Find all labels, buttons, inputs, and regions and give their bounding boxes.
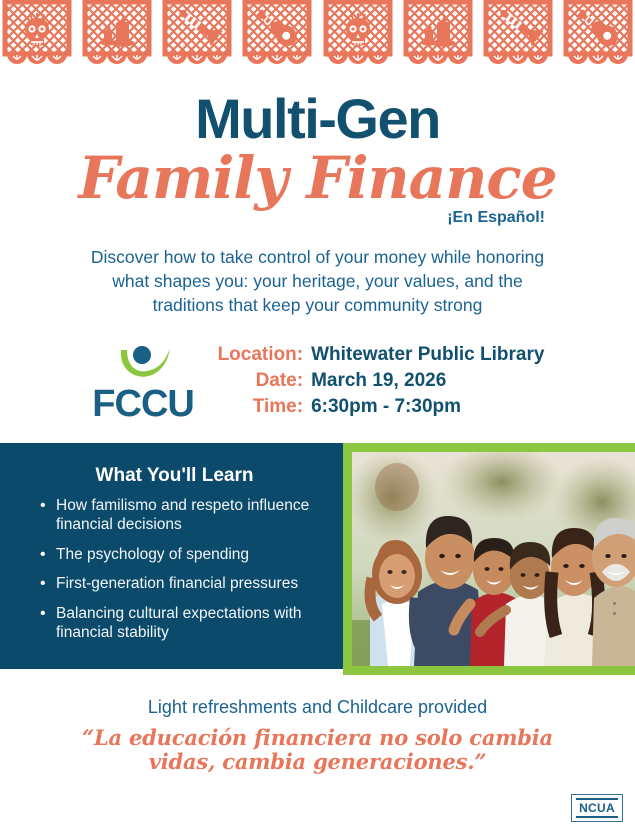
- papel-panel-candles-2: [401, 0, 475, 72]
- list-item: Balancing cultural expectations with fin…: [40, 605, 323, 643]
- detail-label-date: Date:: [218, 370, 304, 392]
- event-info-row: FCCU Location: Whitewater Public Library…: [0, 342, 635, 421]
- ncua-logo-text: NCUA: [579, 801, 615, 815]
- event-details-list: Location: Whitewater Public Library Date…: [218, 344, 545, 418]
- candles-icon: [80, 0, 154, 72]
- ncua-logo: NCUA: [571, 794, 623, 822]
- fccu-logo-text: FCCU: [91, 387, 196, 421]
- papel-picado-banner: [0, 0, 635, 72]
- sugar-skull-icon: [0, 0, 74, 72]
- papel-panel-guitar-2: [561, 0, 635, 72]
- detail-value-date: March 19, 2026: [311, 370, 544, 392]
- trumpet-icon: [160, 0, 234, 72]
- ncua-rule-bottom: [576, 816, 618, 818]
- candles-icon: [401, 0, 475, 72]
- photo-frame: [343, 443, 635, 675]
- spanish-badge: ¡En Español!: [447, 209, 545, 226]
- list-item: First-generation financial pressures: [40, 575, 323, 594]
- trumpet-icon: [481, 0, 555, 72]
- detail-value-location: Whitewater Public Library: [311, 344, 544, 366]
- page-subtitle-script: Family Finance: [0, 149, 635, 207]
- list-item: How familismo and respeto influence fina…: [40, 497, 323, 535]
- multigenerational-family-photo: [352, 452, 635, 666]
- papel-panel-guitar-1: [240, 0, 314, 72]
- guitar-icon: [240, 0, 314, 72]
- spanish-quote: “La educación financiera no solo cambia …: [73, 726, 563, 776]
- detail-value-time: 6:30pm - 7:30pm: [311, 396, 544, 418]
- papel-panel-trumpet-2: [481, 0, 555, 72]
- fccu-swoosh-icon: [91, 342, 196, 389]
- page-title: Multi-Gen: [0, 90, 635, 147]
- detail-label-time: Time:: [218, 396, 304, 418]
- what-youll-learn-panel: What You'll Learn How familismo and resp…: [0, 443, 343, 669]
- fccu-logo: FCCU: [91, 342, 196, 421]
- event-description: Discover how to take control of your mon…: [83, 245, 553, 317]
- learn-heading: What You'll Learn: [22, 465, 327, 487]
- papel-panel-trumpet-1: [160, 0, 234, 72]
- footer-block: Light refreshments and Childcare provide…: [0, 697, 635, 776]
- learn-photo-band: What You'll Learn How familismo and resp…: [0, 443, 635, 675]
- papel-panel-sugar-skull-2: [321, 0, 395, 72]
- guitar-icon: [561, 0, 635, 72]
- ncua-rule-top: [576, 798, 618, 800]
- refreshments-note: Light refreshments and Childcare provide…: [0, 697, 635, 718]
- detail-label-location: Location:: [218, 344, 304, 366]
- papel-panel-sugar-skull-1: [0, 0, 74, 72]
- sugar-skull-icon: [321, 0, 395, 72]
- papel-panel-candles-1: [80, 0, 154, 72]
- title-block: Multi-Gen Family Finance ¡En Español!: [0, 72, 635, 227]
- list-item: The psychology of spending: [40, 546, 323, 565]
- learn-items-list: How familismo and respeto influence fina…: [22, 497, 327, 643]
- ncua-logo-box: NCUA: [571, 794, 623, 822]
